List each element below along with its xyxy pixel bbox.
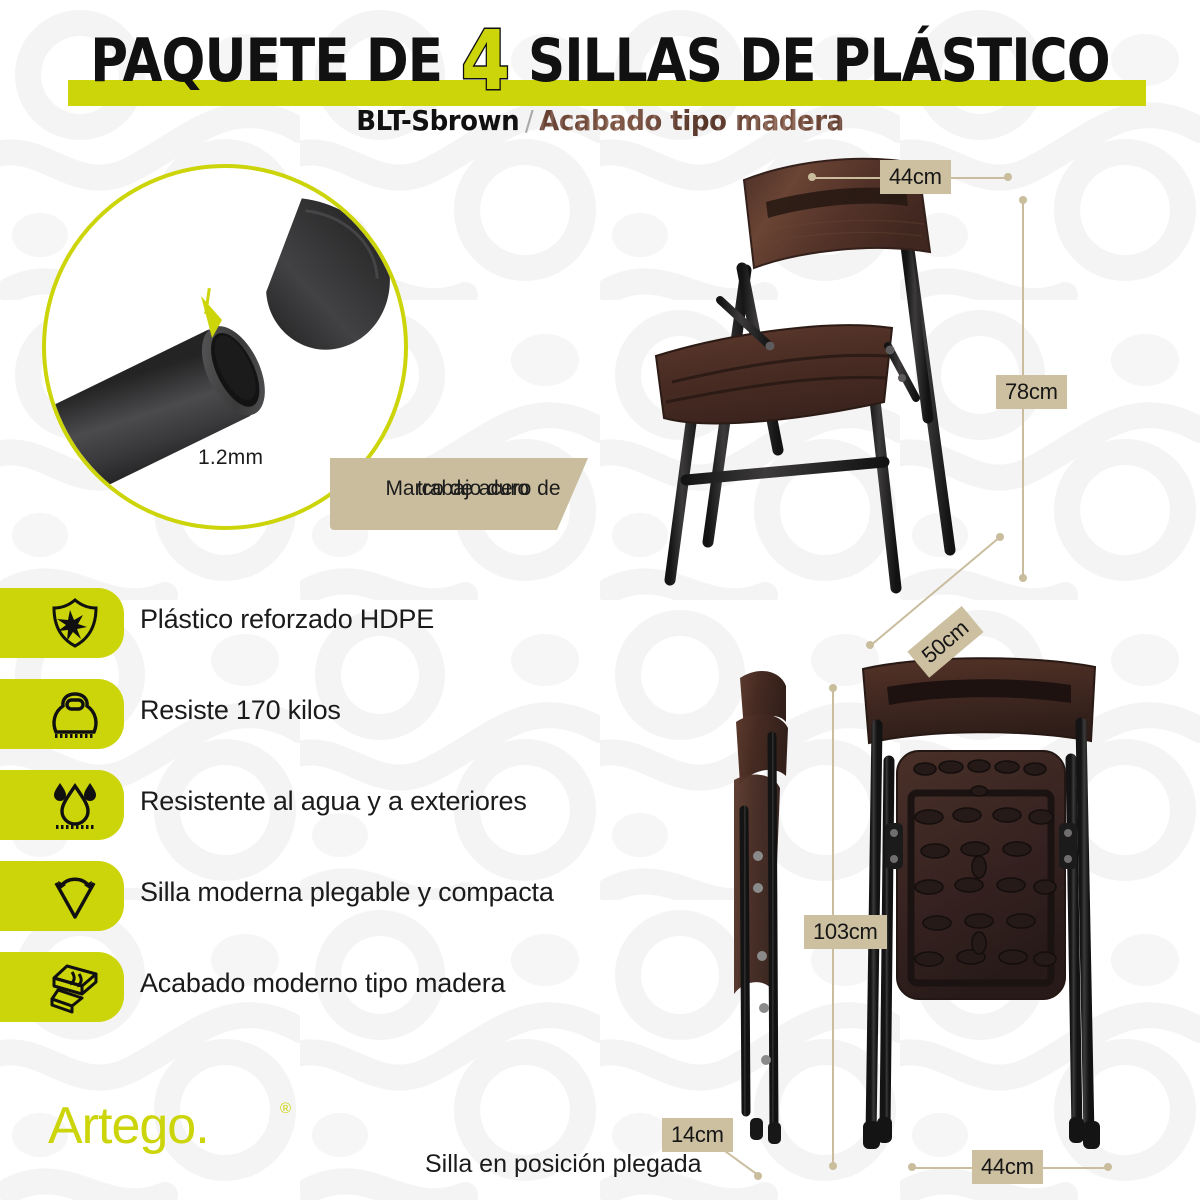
- title-text-after: SILLAS DE PLÁSTICO: [511, 26, 1110, 96]
- sku-code: BLT-Sbrown: [356, 104, 519, 137]
- feature-item-weight: Resiste 170 kilos: [0, 679, 700, 770]
- feature-label-3: Resistente al agua y a exteriores: [140, 786, 527, 817]
- feature-list: Plástico reforzado HDPE Resiste 170 kilo…: [0, 588, 700, 1043]
- dim-dot-folded-height-bottom: [829, 1162, 837, 1170]
- feature-label-4: Silla moderna plegable y compacta: [140, 877, 554, 908]
- dim-dot-main-depth-high: [996, 533, 1004, 541]
- wood-planks-icon: [48, 960, 102, 1014]
- feature-item-folding: Silla moderna plegable y compacta: [0, 861, 700, 952]
- feature-item-wood-finish: Acabado moderno tipo madera: [0, 952, 700, 1043]
- dim-dot-main-height-bottom: [1019, 574, 1027, 582]
- feature-badge-4: [0, 861, 124, 931]
- folding-chair-icon: [48, 869, 102, 923]
- subtitle-separator: /: [525, 104, 534, 137]
- finish-name: Acabado tipo madera: [539, 104, 844, 137]
- dim-tag-back-width: 44cm: [972, 1150, 1043, 1184]
- feature-badge-1: [0, 588, 124, 658]
- dim-dot-main-height-top: [1019, 196, 1027, 204]
- feature-item-water: Resistente al agua y a exteriores: [0, 770, 700, 861]
- steel-frame-banner-text: Marco de acero detrabajo duro: [344, 466, 574, 495]
- feature-badge-3: [0, 770, 124, 840]
- folded-position-caption: Silla en posición plegada: [425, 1150, 702, 1179]
- dim-tag-main-height: 78cm: [996, 375, 1067, 409]
- page-title: PAQUETE DE 4 SILLAS DE PLÁSTICO: [84, 26, 1116, 96]
- dim-dot-main-width-right: [1004, 173, 1012, 181]
- dim-tag-folded-height: 103cm: [804, 915, 887, 949]
- chair-back-view: [855, 655, 1105, 1165]
- title-text-before: PAQUETE DE: [90, 26, 459, 96]
- chair-folded-view: [700, 660, 830, 1160]
- dim-dot-back-width-right: [1104, 1163, 1112, 1171]
- registered-trademark-icon: ®: [280, 1100, 291, 1117]
- dim-dot-folded-height-top: [829, 684, 837, 692]
- dim-tag-main-width: 44cm: [880, 160, 951, 194]
- dim-dot-back-width-left: [908, 1163, 916, 1171]
- title-quantity-4: 4: [461, 32, 509, 92]
- chair-open-view: [650, 150, 1080, 670]
- shield-burst-icon: [48, 596, 102, 650]
- feature-label-5: Acabado moderno tipo madera: [140, 968, 505, 999]
- header: PAQUETE DE 4 SILLAS DE PLÁSTICO BLT-Sbro…: [0, 0, 1200, 150]
- feature-label-2: Resiste 170 kilos: [140, 695, 341, 726]
- brand-logo-text: Artego.: [48, 1097, 209, 1155]
- feature-badge-5: [0, 952, 124, 1022]
- feature-badge-2: [0, 679, 124, 749]
- brand-logo: Artego. ®: [48, 1096, 209, 1156]
- water-drops-icon: [48, 778, 102, 832]
- feature-label-1: Plástico reforzado HDPE: [140, 604, 434, 635]
- dim-dot-main-depth-low: [866, 641, 874, 649]
- banner-line-2: trabajo duro: [358, 474, 588, 503]
- feature-item-hdpe: Plástico reforzado HDPE: [0, 588, 700, 679]
- steel-frame-banner: Marco de acero detrabajo duro: [330, 458, 588, 530]
- tube-thickness-label: 1.2mm: [198, 446, 263, 470]
- subtitle: BLT-Sbrown/Acabado tipo madera: [42, 104, 1158, 137]
- dim-tag-folded-width: 14cm: [662, 1118, 733, 1152]
- dim-dot-main-width-left: [808, 173, 816, 181]
- dim-dot-folded-width-end: [754, 1172, 762, 1180]
- kettlebell-icon: [48, 687, 102, 741]
